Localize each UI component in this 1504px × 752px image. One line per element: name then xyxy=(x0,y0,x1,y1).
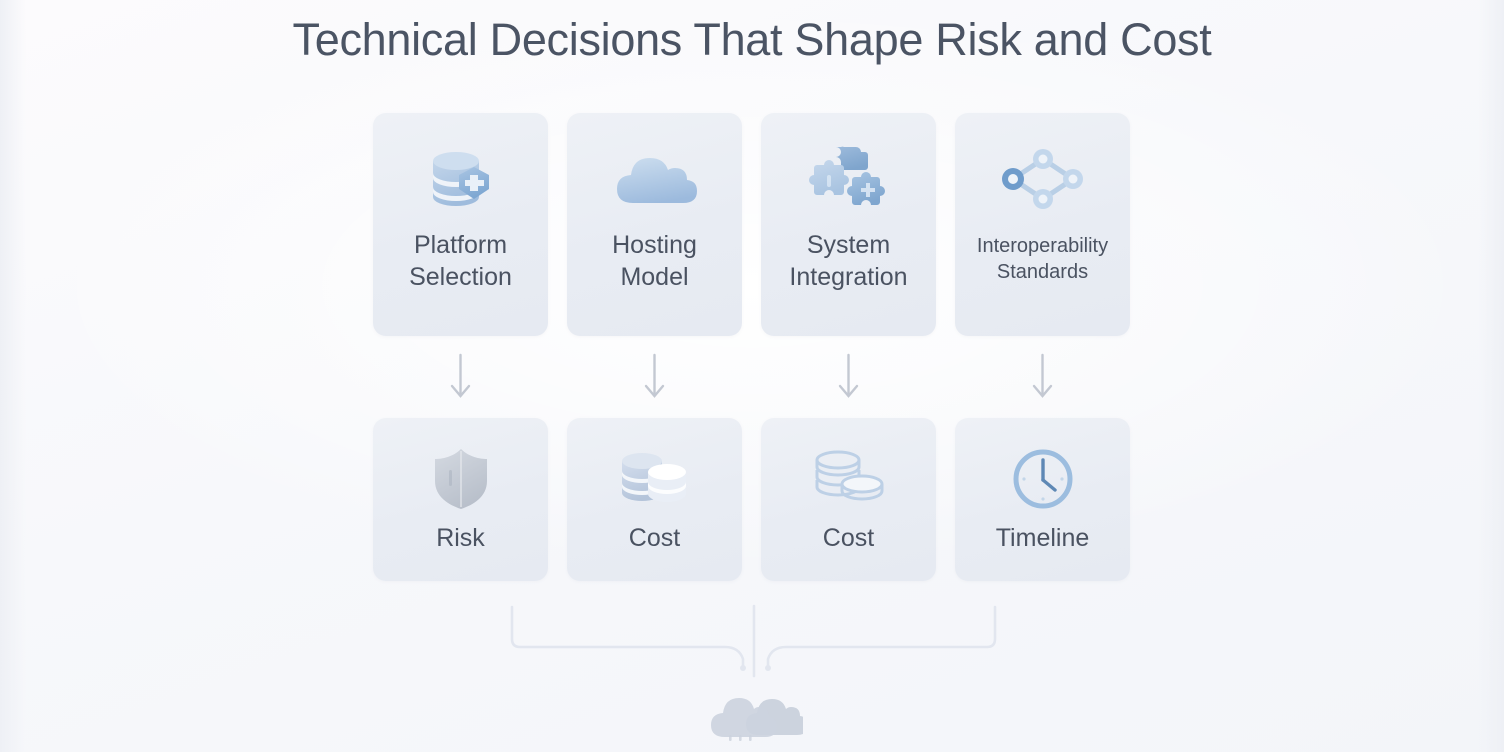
outcome-card-cost-coins[interactable]: Cost xyxy=(761,418,936,581)
slide-canvas: Technical Decisions That Shape Risk and … xyxy=(0,0,1504,752)
decision-card-interoperability-standards[interactable]: Interoperability Standards xyxy=(955,113,1130,336)
outcome-card-cost-data[interactable]: Cost xyxy=(567,418,742,581)
shield-icon xyxy=(429,446,493,512)
decision-card-label: Hosting Model xyxy=(606,229,703,293)
convergence-lines xyxy=(512,606,995,676)
database-shield-icon xyxy=(421,143,501,215)
outcome-card-label: Cost xyxy=(623,522,686,554)
puzzle-pieces-icon xyxy=(803,143,895,215)
outcome-card-risk[interactable]: Risk xyxy=(373,418,548,581)
outcome-card-label: Timeline xyxy=(990,522,1096,554)
coin-stack-icon xyxy=(810,446,888,512)
flow-connectors xyxy=(0,0,1504,752)
outcome-card-label: Cost xyxy=(817,522,880,554)
decision-card-label: Interoperability Standards xyxy=(971,233,1114,286)
cloud-icon xyxy=(613,143,697,215)
decision-card-label: Platform Selection xyxy=(403,229,518,293)
decision-card-system-integration[interactable]: System Integration xyxy=(761,113,936,336)
decision-card-hosting-model[interactable]: Hosting Model xyxy=(567,113,742,336)
clock-icon xyxy=(1009,446,1077,512)
page-title: Technical Decisions That Shape Risk and … xyxy=(0,14,1504,66)
convergence-endpoints xyxy=(740,665,771,671)
database-stack-icon xyxy=(616,446,694,512)
down-arrow-icon xyxy=(452,355,1051,396)
outcome-card-timeline[interactable]: Timeline xyxy=(955,418,1130,581)
decision-card-platform-selection[interactable]: Platform Selection xyxy=(373,113,548,336)
network-nodes-icon xyxy=(997,143,1089,215)
cloud-rain-icon xyxy=(707,677,803,741)
outcome-card-label: Risk xyxy=(430,522,491,554)
decision-card-label: System Integration xyxy=(783,229,913,293)
